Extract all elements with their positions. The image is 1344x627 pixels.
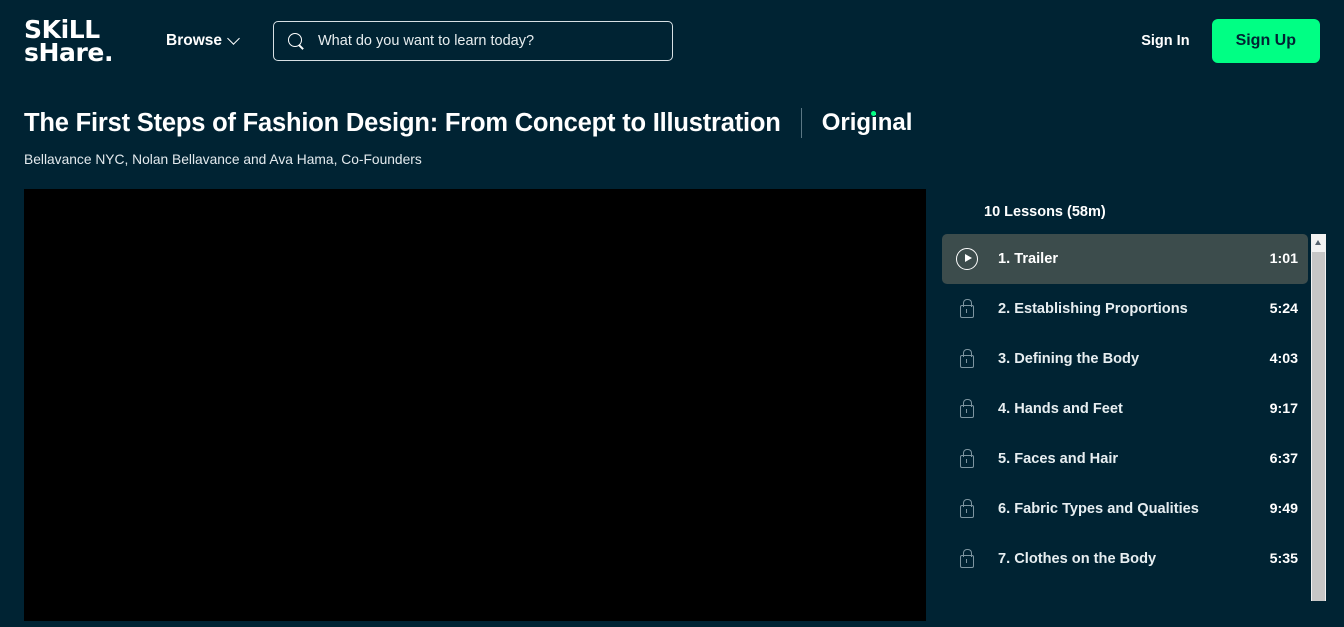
lesson-row[interactable]: 1. Trailer1:01 [942,234,1308,284]
lesson-title: 1. Trailer [998,251,1258,267]
video-player[interactable] [24,189,926,621]
lesson-duration: 9:17 [1270,401,1298,417]
lessons-scrollbar[interactable] [1311,234,1326,601]
lock-icon [960,455,974,468]
lesson-icon-wrap [954,500,980,518]
lesson-title: 7. Clothes on the Body [998,551,1258,567]
lock-icon [960,555,974,568]
lock-icon [960,355,974,368]
original-badge: Original [822,109,913,137]
title-row: The First Steps of Fashion Design: From … [24,108,1320,138]
lesson-row[interactable]: 2. Establishing Proportions5:24 [942,284,1308,334]
sign-up-button[interactable]: Sign Up [1212,19,1320,63]
lesson-icon-wrap [954,300,980,318]
header-actions: Sign In Sign Up [1137,19,1320,63]
course-header: The First Steps of Fashion Design: From … [0,82,1344,167]
logo-line-2: sHare. [24,41,124,64]
scrollbar-thumb[interactable] [1312,252,1325,601]
chevron-down-icon [229,34,240,45]
lesson-icon-wrap [954,450,980,468]
lock-icon [960,505,974,518]
title-divider [801,108,802,138]
lesson-title: 3. Defining the Body [998,351,1258,367]
lesson-duration: 1:01 [1270,251,1298,267]
main-content: 10 Lessons (58m) 1. Trailer1:012. Establ… [0,167,1344,599]
lesson-title: 2. Establishing Proportions [998,301,1258,317]
lock-icon [960,405,974,418]
sign-in-link[interactable]: Sign In [1137,27,1193,55]
lesson-title: 6. Fabric Types and Qualities [998,501,1258,517]
lesson-icon-wrap [954,350,980,368]
page-title: The First Steps of Fashion Design: From … [24,109,781,138]
search-icon [288,33,305,50]
lesson-icon-wrap [954,400,980,418]
lesson-list: 1. Trailer1:012. Establishing Proportion… [942,234,1344,599]
lesson-title: 5. Faces and Hair [998,451,1258,467]
lesson-duration: 5:24 [1270,301,1298,317]
lesson-row[interactable]: 7. Clothes on the Body5:35 [942,534,1308,584]
play-icon[interactable] [956,248,978,270]
lesson-icon-wrap [954,550,980,568]
lesson-row[interactable]: 5. Faces and Hair6:37 [942,434,1308,484]
lesson-row[interactable]: 8. Texture and Color8:26 [942,584,1308,599]
skillshare-logo[interactable]: SKiLL sHare. [24,18,124,64]
lesson-duration: 4:03 [1270,351,1298,367]
original-badge-label: Original [822,109,913,136]
search-box[interactable] [273,21,673,61]
instructor-byline: Bellavance NYC, Nolan Bellavance and Ava… [24,152,1320,167]
scroll-up-arrow-icon[interactable] [1311,234,1326,250]
site-header: SKiLL sHare. Browse Sign In Sign Up [0,0,1344,82]
green-dot-icon [871,111,876,116]
lessons-panel: 10 Lessons (58m) 1. Trailer1:012. Establ… [926,189,1344,599]
lesson-duration: 6:37 [1270,451,1298,467]
lesson-icon-wrap [954,248,980,270]
lesson-duration: 5:35 [1270,551,1298,567]
search-input[interactable] [318,33,658,49]
browse-menu[interactable]: Browse [166,32,240,50]
lesson-row[interactable]: 4. Hands and Feet9:17 [942,384,1308,434]
browse-label: Browse [166,32,222,50]
lesson-duration: 9:49 [1270,501,1298,517]
lock-icon [960,305,974,318]
lesson-row[interactable]: 6. Fabric Types and Qualities9:49 [942,484,1308,534]
lesson-title: 4. Hands and Feet [998,401,1258,417]
lesson-row[interactable]: 3. Defining the Body4:03 [942,334,1308,384]
lessons-count-header: 10 Lessons (58m) [942,189,1344,234]
